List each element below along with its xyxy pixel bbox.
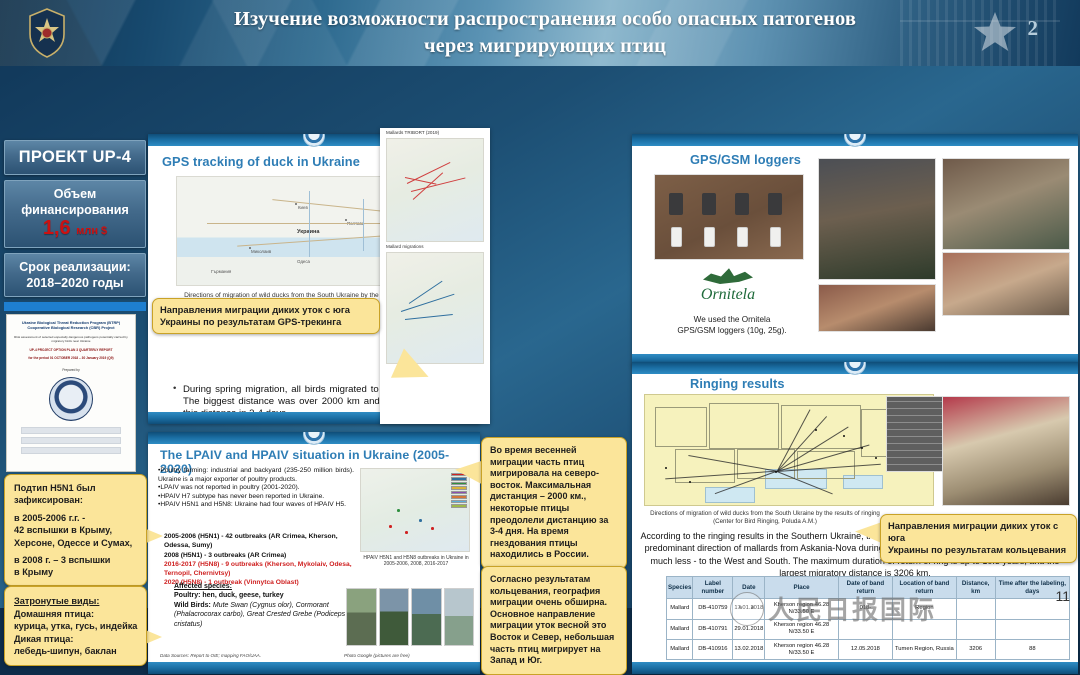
term-label: Срок реализации: xyxy=(19,260,130,274)
photo-grebe xyxy=(411,588,442,646)
lpaiv-body: •Poultry farming: industrial and backyar… xyxy=(158,467,354,510)
ornitela-bird-icon xyxy=(703,266,753,288)
map-label-mykolaiv: Миколаив xyxy=(251,249,271,254)
lpaiv-data-source: Data Sources: Report to OIE; mapping FAO… xyxy=(160,653,261,658)
cell-return-location: Tumen Region, Russia xyxy=(893,640,957,660)
table-row: Mallard DB-410759 17.01.2018 Kherson reg… xyxy=(667,599,1070,619)
photo-cormorant xyxy=(346,588,377,646)
report-logo-3 xyxy=(21,447,121,454)
photo-logger-attachment xyxy=(818,158,936,280)
species-title: Затронутые виды: xyxy=(14,596,99,606)
h5n1-l3: в 2005-2006 г.г. - xyxy=(14,513,85,523)
card-gps-gsm-loggers: GPS/GSM loggers Ornitela We used the O xyxy=(632,134,1078,366)
report-logos xyxy=(11,427,131,454)
ring-cap-l2: Украины по результатам кольцевания xyxy=(888,544,1066,555)
project-panel: ПРОЕКТ UP-4 Объем финансирования 1,6 млн… xyxy=(4,140,146,311)
lpaiv-photo-source: Photo Google (pictures are free) xyxy=(344,653,410,658)
header-star-icon xyxy=(972,10,1018,56)
page-title-line1: Изучение возможности распространения осо… xyxy=(150,6,940,33)
loggers-caption-l2: GPS/GSM loggers (10g, 25g). xyxy=(648,325,816,336)
header-page-number: 2 xyxy=(1028,16,1039,41)
cell-date: 29.01.2018 xyxy=(733,619,765,639)
affected-poultry: Poultry: hen, duck, geese, turkey xyxy=(174,592,284,599)
ring-cap-l1: Направления миграции диких уток с юга xyxy=(888,520,1058,543)
report-prepared-by: Prepared by xyxy=(11,368,131,372)
photo-duck-hands xyxy=(818,284,936,332)
report-logo-1 xyxy=(21,427,121,434)
ministry-emblem-icon xyxy=(20,6,74,60)
photo-mute-swan xyxy=(444,588,475,646)
th-date-band-return: Date of band return xyxy=(838,577,892,599)
lpaiv-body-3: •HPAIV H7 subtype has never been reporte… xyxy=(158,493,354,502)
th-place: Place xyxy=(765,577,838,599)
gps-cap-l1: Направления миграции диких уток с юга xyxy=(160,304,350,315)
cell-date: 17.01.2018 xyxy=(733,599,765,619)
report-program-line2: Cooperative Biological Research (CBR) Pr… xyxy=(11,325,131,330)
table-row: Mallard DB-410791 29.01.2018 Kherson reg… xyxy=(667,619,1070,639)
th-date: Date xyxy=(733,577,765,599)
card4-bottom-bar xyxy=(632,662,1078,674)
cell-label: DB-410791 xyxy=(693,619,733,639)
report-logo-2 xyxy=(21,437,121,444)
cell-return-location xyxy=(893,619,957,639)
h5n1-l2: зафиксирован: xyxy=(14,495,83,505)
note-ringing-directions: Направления миграции диких уток с юга Ук… xyxy=(880,514,1077,563)
cell-return-date: 12.05.2018 xyxy=(838,640,892,660)
term-value: 2018–2020 годы xyxy=(26,276,123,290)
photo-duck-held-2 xyxy=(942,252,1070,316)
mini-map-tracks-2 xyxy=(386,252,484,364)
cell-days: 88 xyxy=(995,640,1069,660)
report-period: for the period 01 OCTOBER 2018 – 30 Janu… xyxy=(11,356,131,361)
table-header-row: Species Label number Date Place Date of … xyxy=(667,577,1070,599)
note-ringing-summary: Согласно результатам кольцевания, геогра… xyxy=(481,566,627,675)
mini-map-caption-bottom: Mallard migrations xyxy=(386,244,424,249)
ringing-results-table: Species Label number Date Place Date of … xyxy=(666,576,1070,660)
lpaiv-body-4: •HPAIV H5N1 and H5N8: Ukraine had four w… xyxy=(158,501,354,510)
project-strip xyxy=(4,302,146,311)
photo-ring-tags xyxy=(886,396,944,472)
map-label-romania: Гърмания xyxy=(211,269,231,274)
note-h5n1-subtype: Подтип H5N1 был зафиксирован: в 2005-200… xyxy=(4,474,147,586)
cell-place: Kherson region 46.28 N/33.50 E xyxy=(765,599,838,619)
project-funding: Объем финансирования 1,6 млн $ xyxy=(4,180,146,248)
report-cover-thumbnail: Ukraine Biological Threat Reduction Prog… xyxy=(6,314,136,472)
loggers-card-heading: GPS/GSM loggers xyxy=(690,152,801,167)
outbreak-map-caption: HPAIV H5N1 and H5N8 outbreaks in Ukraine… xyxy=(360,555,472,568)
report-title: UP-4 PROJECT OPTION PLAN 3 QUARTERLY REP… xyxy=(11,348,131,353)
cell-return-date: 018- xyxy=(838,599,892,619)
cell-date: 13.02.2018 xyxy=(733,640,765,660)
cell-return-location: Region xyxy=(893,599,957,619)
loggers-caption: We used the Ornitela GPS/GSM loggers (10… xyxy=(648,314,816,336)
h5n1-l7: в Крыму xyxy=(14,567,53,577)
th-distance: Distance, km xyxy=(956,577,995,599)
funding-label-2: финансирования xyxy=(21,203,129,217)
th-species: Species xyxy=(667,577,693,599)
cell-place: Kherson region 46.28 N/33.50 E xyxy=(765,619,838,639)
h5n1-l4: 42 вспышки в Крыму, xyxy=(14,525,112,535)
funding-unit: млн $ xyxy=(76,225,107,237)
note-spring-migration: Во время весенней миграции часть птиц ми… xyxy=(481,437,627,569)
lpaiv-body-1: •Poultry farming: industrial and backyar… xyxy=(158,467,354,484)
gps-card-heading: GPS tracking of duck in Ukraine xyxy=(162,154,360,169)
hpaiv-wave-2: 2008 (H5N1) - 3 outbreaks (AR Crimea) xyxy=(164,551,356,560)
cell-distance xyxy=(956,599,995,619)
card-lpaiv-hpaiv: The LPAIV and HPAIV situation in Ukraine… xyxy=(148,432,480,674)
map-label-kyiv: Киев xyxy=(298,205,308,210)
mini-map-tracks-1 xyxy=(386,138,484,242)
photo-logger-devices xyxy=(654,174,804,260)
note-affected-species-ru: Затронутые виды: Домашняя птица: курица,… xyxy=(4,586,147,666)
cell-return-date xyxy=(838,619,892,639)
hpaiv-wave-3: 2016-2017 (H5N8) - 9 outbreaks (Kherson,… xyxy=(164,560,356,579)
bird-photo-strip xyxy=(346,588,474,646)
gps-cap-l2: Украины по результатам GPS-трекинга xyxy=(160,316,341,327)
ringing-card-heading: Ringing results xyxy=(690,376,785,391)
table-row: Mallard DB-410916 13.02.2018 Kherson reg… xyxy=(667,640,1070,660)
page-title-line2: через мигрирующих птиц xyxy=(150,33,940,60)
th-location-band-return: Location of band return xyxy=(893,577,957,599)
page-title: Изучение возможности распространения осо… xyxy=(150,6,940,60)
project-term: Срок реализации: 2018–2020 годы xyxy=(4,253,146,297)
slide-body: ПРОЕКТ UP-4 Объем финансирования 1,6 млн… xyxy=(0,66,1080,608)
affected-title: Affected species: xyxy=(174,583,232,590)
slide-header: 2 Изучение возможности распространения о… xyxy=(0,0,1080,66)
cell-species: Mallard xyxy=(667,599,693,619)
species-wild-label: Дикая птица: xyxy=(14,634,73,644)
photo-duck-held-1 xyxy=(942,158,1070,250)
th-label-number: Label number xyxy=(693,577,733,599)
ringing-map-caption-l1: Directions of migration of wild ducks fr… xyxy=(640,510,890,518)
report-seal-icon xyxy=(49,377,93,421)
card2-bottom-bar xyxy=(148,662,480,674)
h5n1-l1: Подтип H5N1 был xyxy=(14,483,96,493)
ornitela-brand-name: Ornitela xyxy=(668,286,788,304)
photo-bird-ringing xyxy=(942,396,1070,506)
ringing-map-caption: Directions of migration of wild ducks fr… xyxy=(640,510,890,526)
cell-label: DB-410759 xyxy=(693,599,733,619)
h5n1-l6: в 2008 г. – 3 вспышки xyxy=(14,555,110,565)
cell-distance: 3206 xyxy=(956,640,995,660)
photo-mallard xyxy=(379,588,410,646)
species-poultry-label: Домашняя птица: xyxy=(14,609,94,619)
lpaiv-body-2: •LPAIV was not reported in poultry (2001… xyxy=(158,484,354,493)
mini-map-caption-top: Mallards TRIBORT (2019) xyxy=(386,130,439,135)
report-subject: Risk assessment of selected especially d… xyxy=(11,335,131,344)
cell-species: Mallard xyxy=(667,619,693,639)
cell-days xyxy=(995,619,1069,639)
ornitela-logo: Ornitela xyxy=(668,266,788,304)
funding-amount: 1,6 млн $ xyxy=(9,218,141,242)
cell-distance xyxy=(956,619,995,639)
hpaiv-wave-1: 2005-2006 (H5N1) - 42 outbreaks (AR Crim… xyxy=(164,532,356,551)
loggers-caption-l1: We used the Ornitela xyxy=(648,314,816,325)
cell-place: Kherson region 46.28 N/33.50 E xyxy=(765,640,838,660)
slide-page-number: 11 xyxy=(1055,588,1070,604)
species-wild-list: лебедь-шипун, баклан xyxy=(14,646,117,656)
map-label-odesa: Одеса xyxy=(297,259,310,264)
species-poultry-list: курица, утка, гусь, индейка xyxy=(14,621,137,631)
affected-species-block: Affected species: Poultry: hen, duck, ge… xyxy=(174,582,364,629)
note-gps-tracking-directions: Направления миграции диких уток с юга Ук… xyxy=(152,298,380,334)
project-title: ПРОЕКТ UP-4 xyxy=(4,140,146,175)
ringing-map-caption-l2: (Center for Bird Ringing, Poluda A.M.) xyxy=(640,518,890,526)
cell-label: DB-410916 xyxy=(693,640,733,660)
funding-label-1: Объем xyxy=(54,187,96,201)
h5n1-l5: Херсоне, Одессе и Сумах, xyxy=(14,538,132,548)
cell-species: Mallard xyxy=(667,640,693,660)
hpaiv-waves-list: 2005-2006 (H5N1) - 42 outbreaks (AR Crim… xyxy=(164,532,356,588)
